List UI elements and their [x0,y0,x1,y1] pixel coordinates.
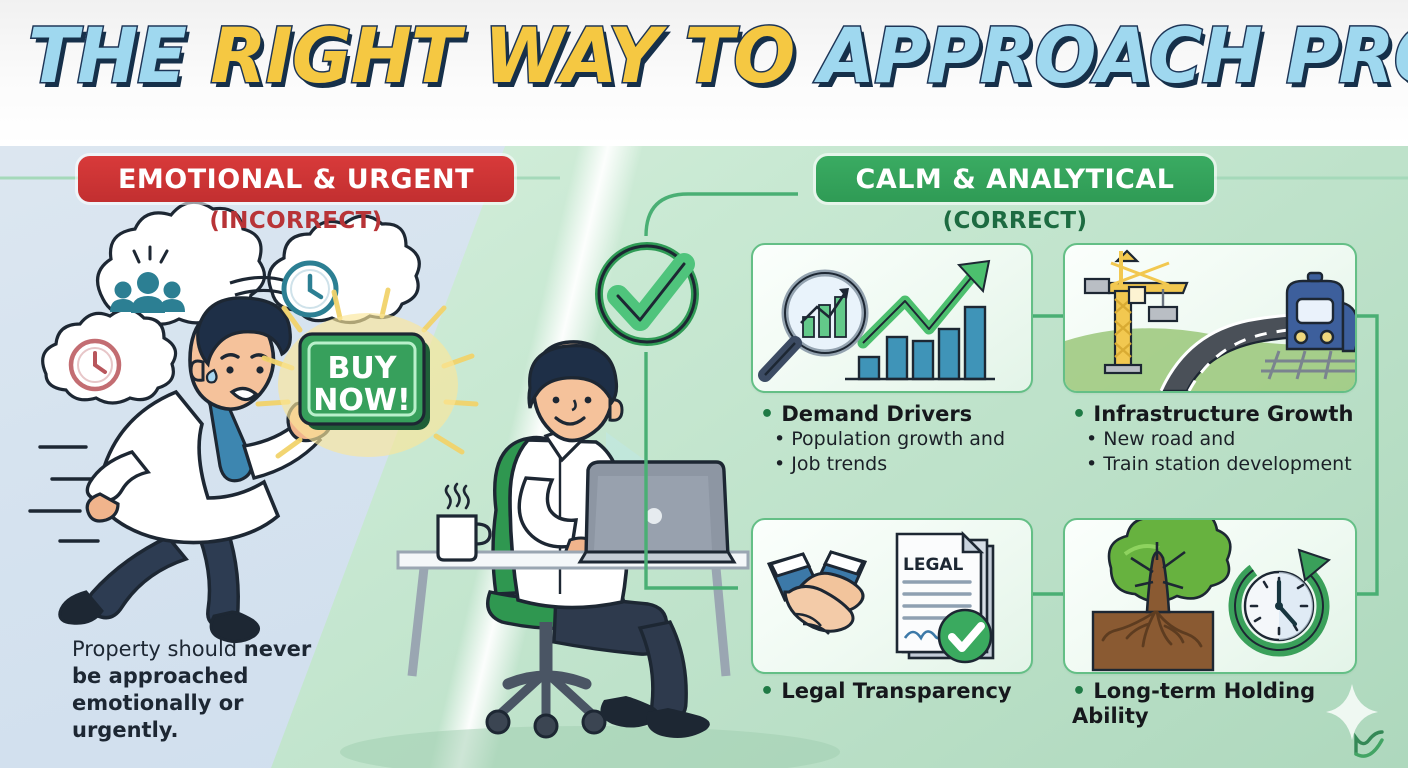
label-incorrect: (INCORRECT) [78,208,514,234]
block-legal-transparency: • Legal Transparency [760,679,1040,704]
card-title-demand-drivers: • Demand Drivers [760,402,1040,427]
card-long-term-holding[interactable] [1063,518,1357,674]
badge-emotional-urgent[interactable]: EMOTIONAL & URGENT [78,156,514,202]
green-check-circle-icon [588,236,706,352]
bullet-dot-icon: • [1072,402,1086,427]
card-bullet-1: • New road and [1086,427,1372,452]
badge-calm-analytical[interactable]: CALM & ANALYTICAL [816,156,1214,202]
title-part-1: THE [28,11,186,100]
page-title: THE RIGHT WAY TO APPROACH PROPERTY [28,16,1380,96]
label-correct: (CORRECT) [816,208,1214,234]
block-demand-drivers: • Demand Drivers • Population growth and… [760,402,1040,477]
left-caption-plain: Property should [72,637,244,661]
title-part-2: RIGHT WAY TO [210,11,794,100]
card-title-infrastructure-growth: • Infrastructure Growth [1072,402,1372,427]
crane-road-train-icon [1065,245,1355,391]
infographic-canvas: BUY NOW! [0,0,1408,768]
card-title-long-term-holding: • Long-term Holding Ability [1072,679,1362,728]
card-legal-transparency[interactable]: LEGAL [751,518,1033,674]
magnifier-bar-chart-growth-icon [753,245,1031,391]
card-infrastructure-growth[interactable] [1063,243,1357,393]
legal-doc-label: LEGAL [903,555,964,575]
card-demand-drivers[interactable] [751,243,1033,393]
card-bullet-1: • Population growth and [774,427,1040,452]
badge-emotional-urgent-label: EMOTIONAL & URGENT [118,164,474,195]
bullet-dot-icon: • [760,402,774,427]
block-long-term-holding: • Long-term Holding Ability [1072,679,1362,728]
bullet-dot-icon: • [1072,679,1086,704]
left-caption: Property should never be approached emot… [72,636,322,744]
title-part-3: APPROACH PROPERTY [819,11,1408,100]
badge-calm-analytical-label: CALM & ANALYTICAL [856,164,1175,195]
card-bullet-2: • Train station development [1086,452,1372,477]
green-chart-check-logo [1352,730,1386,760]
card-title-legal-transparency: • Legal Transparency [760,679,1040,704]
bullet-dot-icon: • [760,679,774,704]
tree-roots-clock-cycle-icon [1065,520,1355,672]
card-bullet-2: • Job trends [774,452,1040,477]
block-infrastructure-growth: • Infrastructure Growth • New road and •… [1072,402,1372,477]
handshake-legal-document-check-icon: LEGAL [753,520,1031,672]
